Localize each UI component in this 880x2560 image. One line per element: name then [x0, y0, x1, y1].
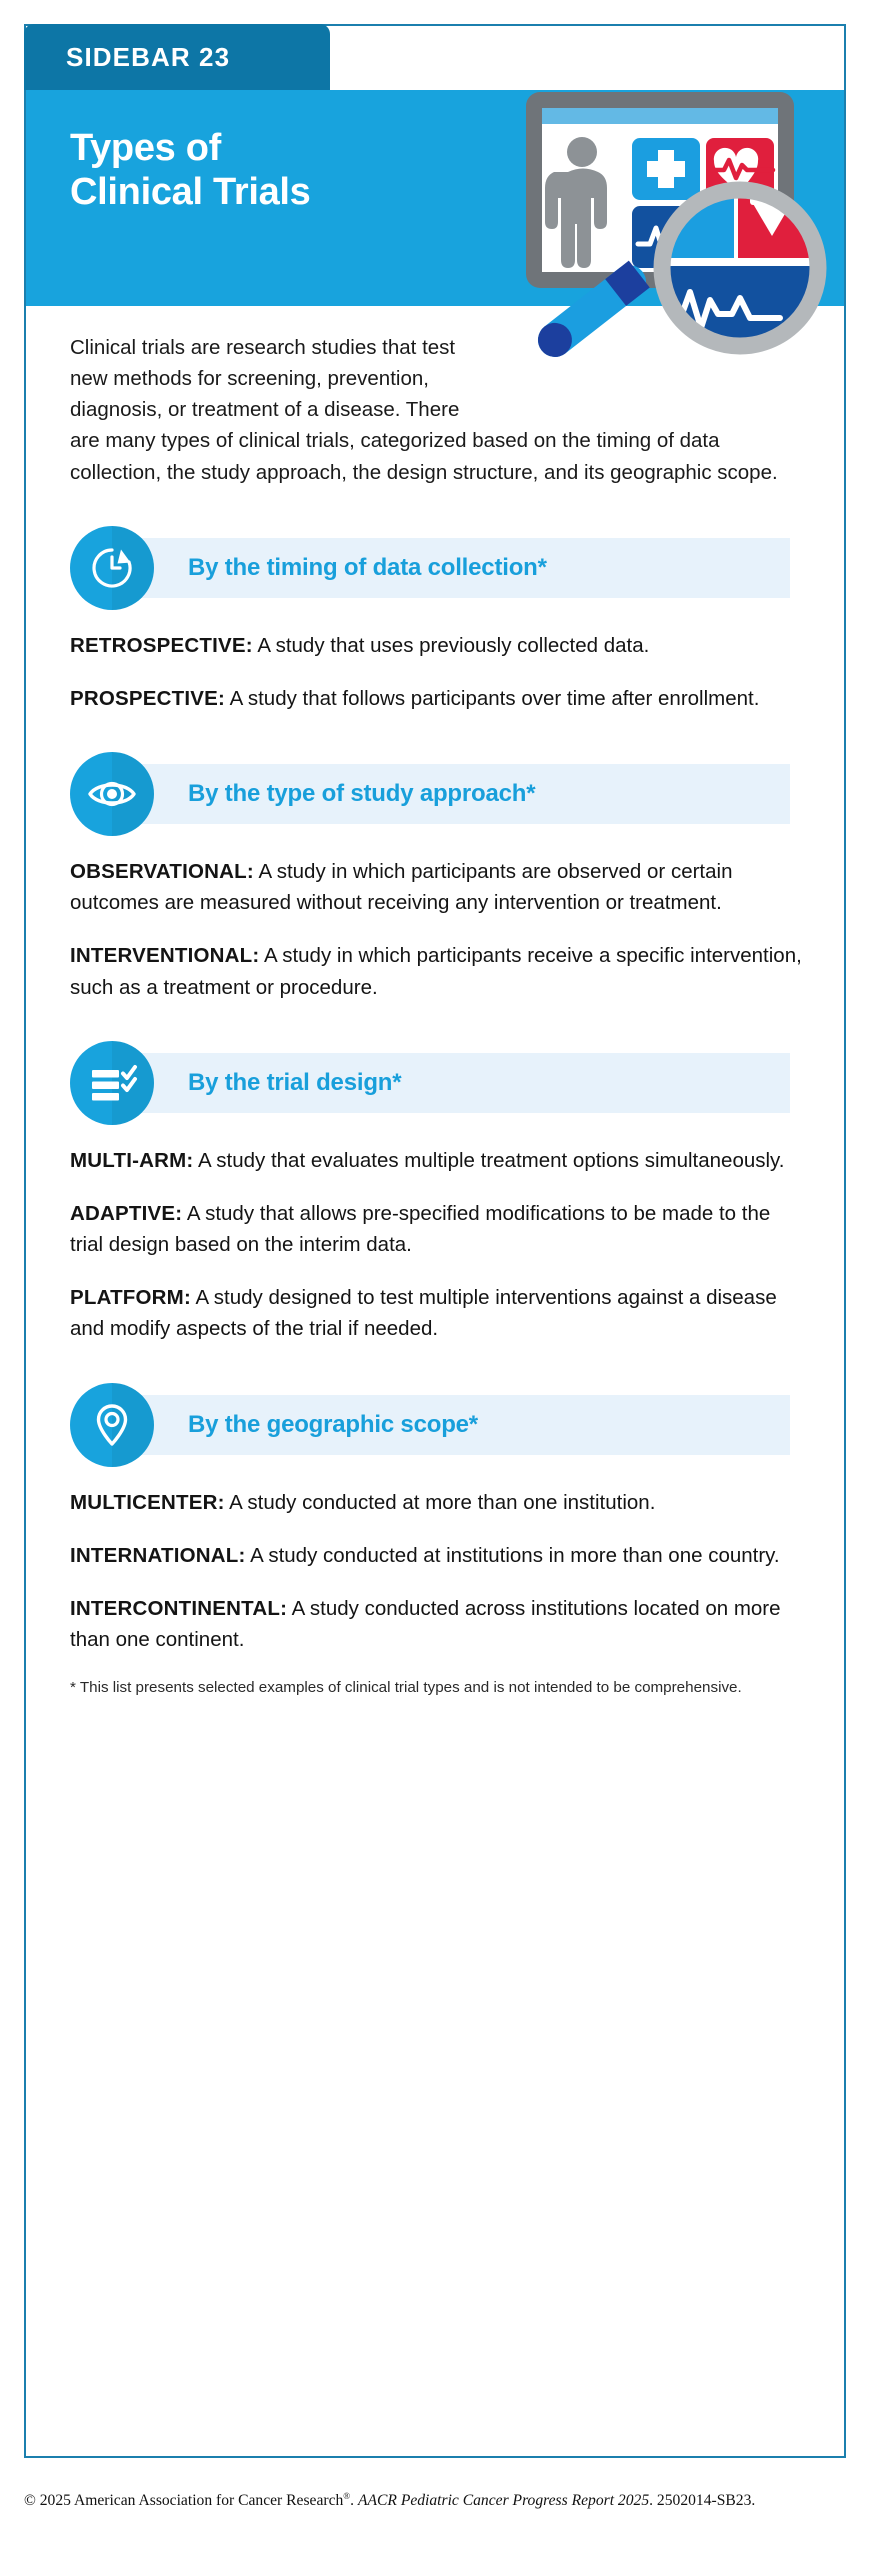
section-timing: By the timing of data collection* RETROS…: [70, 522, 806, 714]
magnifying-glass-icon: [658, 190, 838, 362]
section-title: By the trial design*: [188, 1069, 401, 1097]
definition-item: RETROSPECTIVE: A study that uses previou…: [70, 630, 806, 661]
page-title: Types of Clinical Trials: [70, 126, 311, 214]
definition-term: INTERNATIONAL:: [70, 1544, 246, 1567]
definition-list: OBSERVATIONAL: A study in which particip…: [70, 856, 806, 1003]
definition-item: INTERNATIONAL: A study conducted at inst…: [70, 1540, 806, 1571]
definition-list: RETROSPECTIVE: A study that uses previou…: [70, 630, 806, 714]
sidebar-tab: SIDEBAR 23: [24, 24, 330, 90]
definition-term: RETROSPECTIVE:: [70, 634, 253, 657]
sidebar-infographic-page: Types of Clinical Trials: [0, 0, 880, 2560]
definition-term: INTERCONTINENTAL:: [70, 1597, 287, 1620]
definition-text: A study conducted at more than one insti…: [225, 1491, 656, 1514]
definition-text: A study that uses previously collected d…: [253, 634, 650, 657]
clinical-trial-illustration: [498, 52, 858, 382]
intro-text-part1: Clinical trials are research studies tha…: [70, 332, 490, 425]
map-pin-icon: [70, 1383, 154, 1467]
definition-list: MULTI-ARM: A study that evaluates multip…: [70, 1145, 806, 1345]
intro-text-part2: are many types of clinical trials, categ…: [70, 425, 806, 487]
section-study-approach: By the type of study approach* OBSERVATI…: [70, 748, 806, 1003]
definition-term: MULTICENTER:: [70, 1491, 225, 1514]
definition-text: A study that follows participants over t…: [225, 687, 759, 710]
eye-icon: [70, 752, 154, 836]
copyright-suffix: . 2502014-SB23.: [649, 2492, 755, 2509]
footnote: * This list presents selected examples o…: [70, 1677, 806, 1699]
section-header: By the geographic scope*: [70, 1379, 806, 1471]
sidebar-card: Types of Clinical Trials: [24, 24, 846, 2458]
section-header: By the timing of data collection*: [70, 522, 806, 614]
checklist-icon: [70, 1041, 154, 1125]
copyright-notice: © 2025 American Association for Cancer R…: [24, 2490, 854, 2512]
medical-cross-icon: [632, 138, 700, 200]
section-title: By the geographic scope*: [188, 1411, 478, 1439]
definition-term: OBSERVATIONAL:: [70, 860, 254, 883]
clock-arrow-icon: [70, 526, 154, 610]
definition-item: MULTI-ARM: A study that evaluates multip…: [70, 1145, 806, 1176]
section-trial-design: By the trial design* MULTI-ARM: A study …: [70, 1037, 806, 1345]
card-body: Clinical trials are research studies tha…: [26, 306, 844, 2456]
sidebar-tab-label: SIDEBAR 23: [24, 42, 230, 73]
section-header: By the type of study approach*: [70, 748, 806, 840]
section-header: By the trial design*: [70, 1037, 806, 1129]
definition-term: ADAPTIVE:: [70, 1202, 182, 1225]
definition-item: PROSPECTIVE: A study that follows partic…: [70, 683, 806, 714]
section-title: By the timing of data collection*: [188, 554, 547, 582]
definition-item: INTERCONTINENTAL: A study conducted acro…: [70, 1593, 806, 1655]
definition-text: A study conducted at institutions in mor…: [246, 1544, 780, 1567]
definition-term: INTERVENTIONAL:: [70, 944, 259, 967]
copyright-mid: .: [350, 2492, 358, 2509]
report-title: AACR Pediatric Cancer Progress Report 20…: [358, 2492, 649, 2509]
definition-item: OBSERVATIONAL: A study in which particip…: [70, 856, 806, 918]
section-geographic-scope: By the geographic scope* MULTICENTER: A …: [70, 1379, 806, 1700]
definition-item: ADAPTIVE: A study that allows pre-specif…: [70, 1198, 806, 1260]
definition-term: MULTI-ARM:: [70, 1149, 193, 1172]
definition-term: PROSPECTIVE:: [70, 687, 225, 710]
section-title: By the type of study approach*: [188, 780, 535, 808]
definition-item: PLATFORM: A study designed to test multi…: [70, 1282, 806, 1344]
definition-term: PLATFORM:: [70, 1286, 191, 1309]
copyright-prefix: © 2025 American Association for Cancer R…: [24, 2492, 343, 2509]
definition-text: A study that evaluates multiple treatmen…: [193, 1149, 784, 1172]
definition-item: MULTICENTER: A study conducted at more t…: [70, 1487, 806, 1518]
definition-item: INTERVENTIONAL: A study in which partici…: [70, 940, 806, 1002]
definition-list: MULTICENTER: A study conducted at more t…: [70, 1487, 806, 1656]
